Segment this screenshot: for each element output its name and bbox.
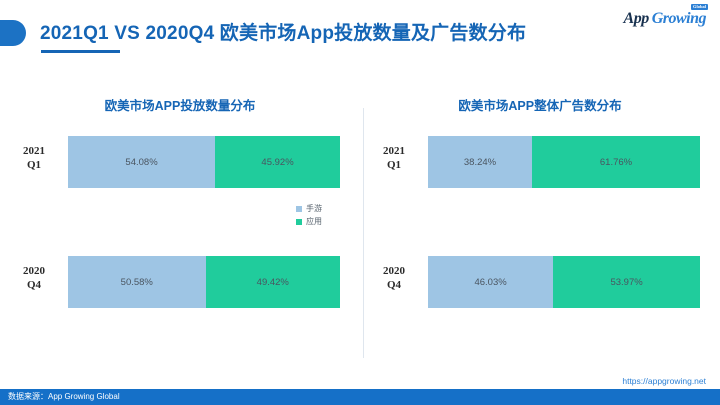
chart-row: 2020 Q4 46.03% 53.97% — [360, 256, 720, 308]
title-accent-pill — [0, 20, 26, 46]
category-label-line2: Q4 — [364, 278, 424, 292]
legend-item-yingyong: 应用 — [296, 215, 352, 228]
chart-panel-app-count: 欧美市场APP投放数量分布 2021 Q1 54.08% 45.92% 2020… — [0, 80, 360, 365]
stacked-bar: 46.03% 53.97% — [428, 256, 700, 308]
bar-segment-yingyong: 61.76% — [532, 136, 700, 188]
page-title: 2021Q1 VS 2020Q4 欧美市场App投放数量及广告数分布 — [40, 18, 526, 45]
category-label: 2021 Q1 — [364, 144, 424, 172]
category-label: 2020 Q4 — [4, 264, 64, 292]
app-growing-logo: App Growing Global — [624, 8, 706, 30]
logo-global-badge: Global — [691, 4, 708, 10]
legend-label: 应用 — [306, 215, 322, 228]
bar-segment-shouyou: 54.08% — [68, 136, 215, 188]
charts-container: 欧美市场APP投放数量分布 2021 Q1 54.08% 45.92% 2020… — [0, 80, 720, 365]
chart-panel-ad-count: 欧美市场APP整体广告数分布 2021 Q1 38.24% 61.76% 202… — [360, 80, 720, 365]
legend-item-shouyou: 手游 — [296, 202, 352, 215]
category-label-line1: 2020 — [4, 264, 64, 278]
bar-segment-yingyong: 53.97% — [553, 256, 700, 308]
title-underline — [41, 50, 120, 53]
category-label-line2: Q4 — [4, 278, 64, 292]
bar-segment-shouyou: 38.24% — [428, 136, 532, 188]
category-label-line1: 2021 — [364, 144, 424, 158]
chart-row: 2021 Q1 38.24% 61.76% — [360, 136, 720, 188]
legend-swatch-icon — [296, 219, 302, 225]
category-label-line2: Q1 — [4, 158, 64, 172]
category-label-line2: Q1 — [364, 158, 424, 172]
bar-segment-yingyong: 49.42% — [206, 256, 340, 308]
chart-legend: 手游 应用 — [296, 202, 352, 228]
bar-segment-shouyou: 46.03% — [428, 256, 553, 308]
category-label: 2020 Q4 — [364, 264, 424, 292]
logo-text-growing: Growing Global — [652, 10, 706, 28]
chart-title: 欧美市场APP投放数量分布 — [0, 95, 360, 114]
bar-segment-shouyou: 50.58% — [68, 256, 206, 308]
bar-segment-yingyong: 45.92% — [215, 136, 340, 188]
stacked-bar: 50.58% 49.42% — [68, 256, 340, 308]
chart-row: 2021 Q1 54.08% 45.92% — [0, 136, 360, 188]
page-header: 2021Q1 VS 2020Q4 欧美市场App投放数量及广告数分布 App G… — [0, 0, 720, 66]
chart-title: 欧美市场APP整体广告数分布 — [360, 95, 720, 114]
stacked-bar: 54.08% 45.92% — [68, 136, 340, 188]
chart-row: 2020 Q4 50.58% 49.42% — [0, 256, 360, 308]
legend-swatch-icon — [296, 206, 302, 212]
data-source-label: 数据来源：App Growing Global — [8, 389, 120, 405]
logo-growing-word: Growing — [652, 10, 706, 27]
category-label: 2021 Q1 — [4, 144, 64, 172]
category-label-line1: 2021 — [4, 144, 64, 158]
footer-bar: 数据来源：App Growing Global — [0, 389, 720, 405]
category-label-line1: 2020 — [364, 264, 424, 278]
logo-text-app: App — [624, 10, 649, 28]
site-url[interactable]: https://appgrowing.net — [622, 376, 706, 386]
legend-label: 手游 — [306, 202, 322, 215]
stacked-bar: 38.24% 61.76% — [428, 136, 700, 188]
